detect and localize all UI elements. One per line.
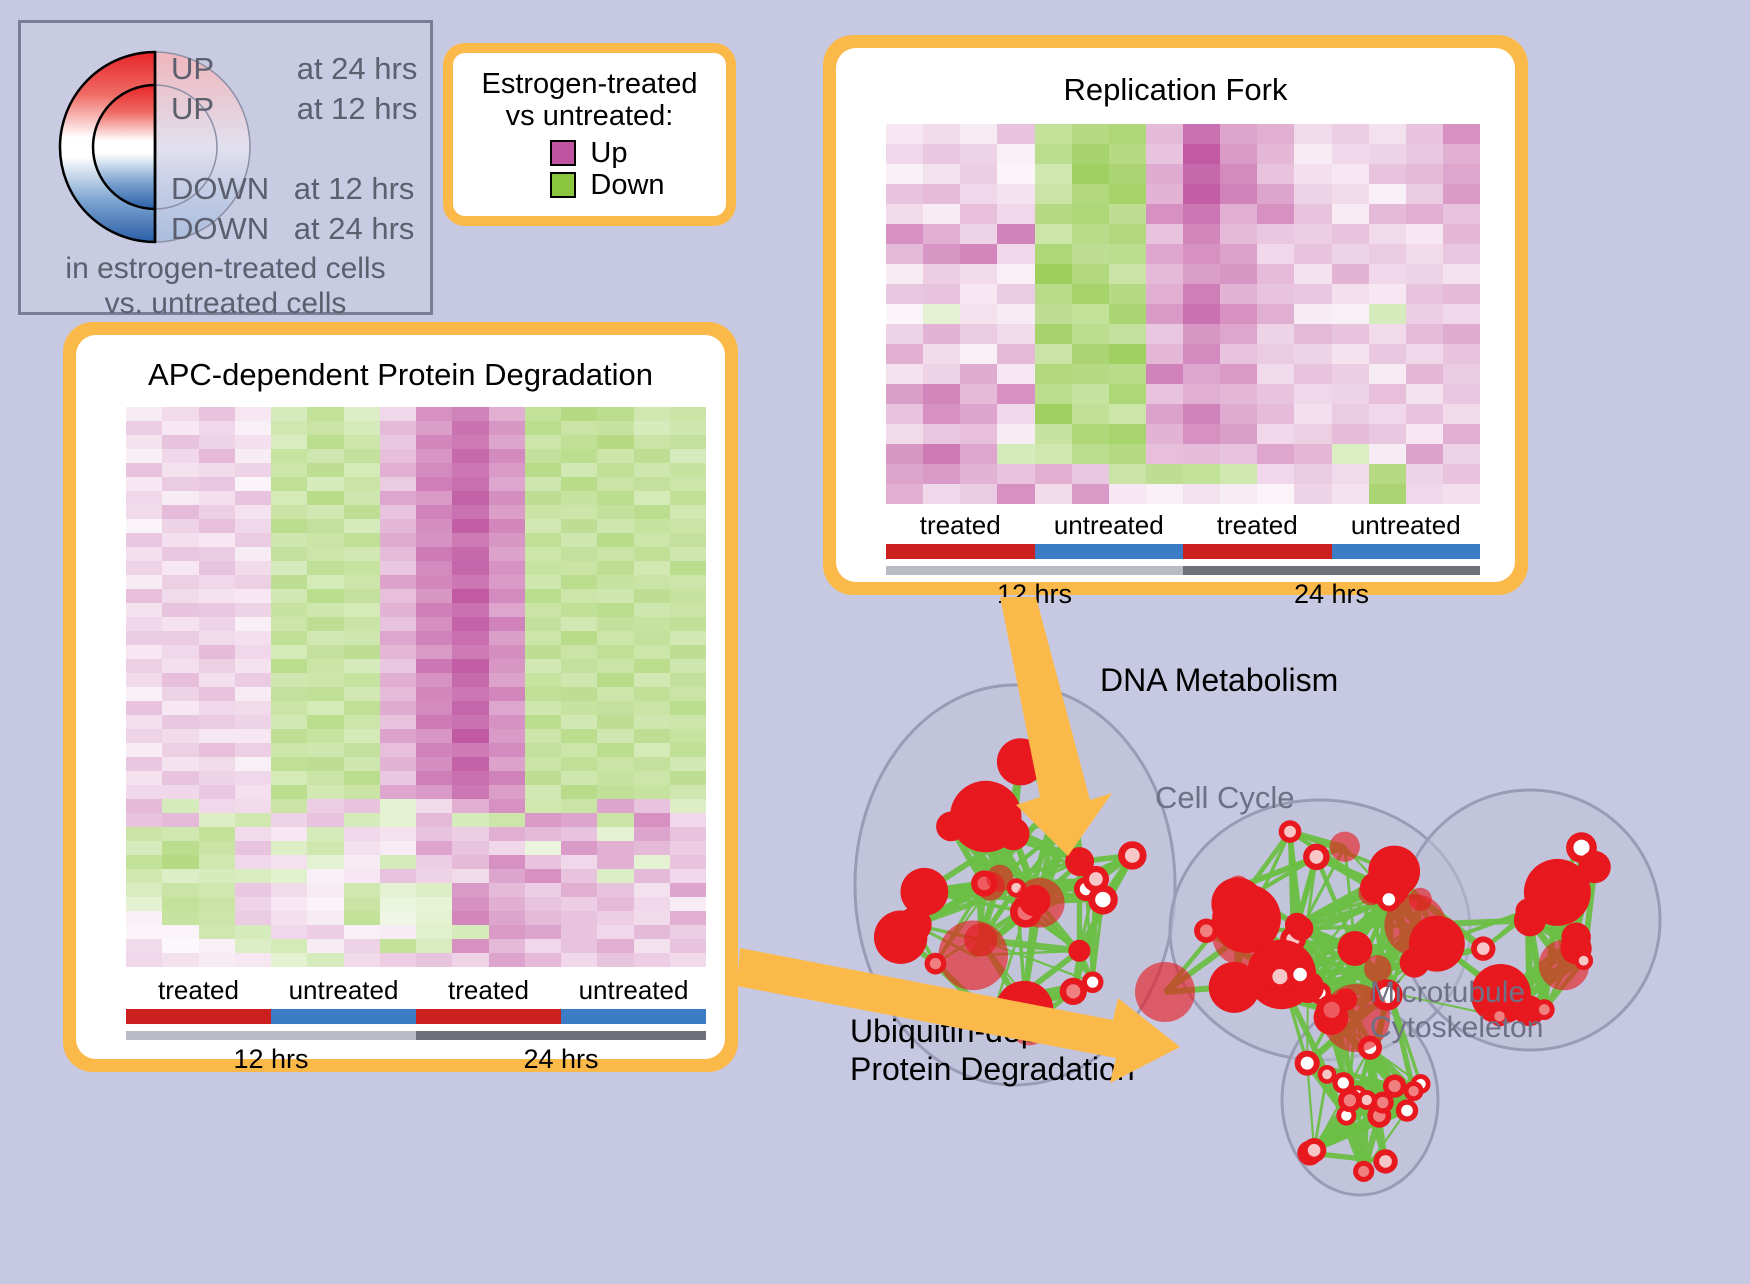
heatmap-cell (525, 799, 561, 813)
heatmap-cell (1109, 284, 1146, 304)
group-bar-apc-1 (271, 1009, 416, 1024)
group-bar-rf-2 (1183, 544, 1332, 559)
heatmap-cell (525, 575, 561, 589)
heatmap-cell (1332, 304, 1369, 324)
heatmap-cell (307, 715, 343, 729)
heatmap-cell (344, 603, 380, 617)
heatmap-cell (634, 897, 670, 911)
heatmap-cell (235, 925, 271, 939)
heatmap-cell (1183, 204, 1220, 224)
heatmap-cell (886, 384, 923, 404)
heatmap-cell (416, 687, 452, 701)
heatmap-cell (271, 855, 307, 869)
heatmap-cell (634, 939, 670, 953)
panel-title-replication-fork: Replication Fork (836, 72, 1515, 108)
heatmap-cell (126, 631, 162, 645)
network-node-core (1389, 1080, 1401, 1092)
heatmap-cell (126, 897, 162, 911)
heatmap-cell (634, 631, 670, 645)
heatmap-cell (597, 939, 633, 953)
heatmap-cell (235, 897, 271, 911)
heatmap-cell (561, 785, 597, 799)
heatmap-cell (126, 911, 162, 925)
heatmap-cell (525, 407, 561, 421)
heatmap-cell (1183, 124, 1220, 144)
heatmap-cell (489, 925, 525, 939)
heatmap-cell (307, 939, 343, 953)
heatmap-cell (199, 491, 235, 505)
heatmap-cell (452, 827, 488, 841)
group-bar-apc-2 (416, 1009, 561, 1024)
heatmap-cell (126, 743, 162, 757)
heatmap-cell (1257, 164, 1294, 184)
heatmap-cell (126, 645, 162, 659)
heatmap-cell (416, 953, 452, 967)
heatmap-cell (235, 715, 271, 729)
heatmap-cell (235, 575, 271, 589)
heatmap-cell (561, 897, 597, 911)
heatmap-cell (126, 519, 162, 533)
heatmap-cell (1443, 344, 1480, 364)
heatmap-cell (380, 687, 416, 701)
heatmap-cell (1257, 384, 1294, 404)
heatmap-cell (1332, 124, 1369, 144)
heatmap-cell (344, 519, 380, 533)
heatmap-cell (670, 547, 706, 561)
heatmap-cell (1035, 184, 1072, 204)
heatmap-cell (126, 463, 162, 477)
heatmap-cell (162, 841, 198, 855)
heatmap-cell (416, 463, 452, 477)
heatmap-cell (162, 533, 198, 547)
heatmap-cell (416, 575, 452, 589)
heatmap-cell (1220, 424, 1257, 444)
heatmap-cell (886, 444, 923, 464)
heatmap-cell (452, 855, 488, 869)
heatmap-cell (1109, 224, 1146, 244)
heatmap-cell (670, 603, 706, 617)
heatmap-cell (670, 701, 706, 715)
heatmap-cell (597, 645, 633, 659)
heatmap-cell (307, 617, 343, 631)
heatmap-cell (525, 589, 561, 603)
heatmap-cell (1220, 484, 1257, 504)
network-node-core (1308, 1144, 1321, 1157)
heatmap-cell (1332, 244, 1369, 264)
key-when-3: at 24 hrs (294, 213, 415, 246)
heatmap-cell (1072, 404, 1109, 424)
heatmap-cell (670, 575, 706, 589)
heatmap-cell (1332, 324, 1369, 344)
heatmap-cell (634, 771, 670, 785)
heatmap-cell (1369, 264, 1406, 284)
heatmap-cell (235, 757, 271, 771)
heatmap-cell (452, 939, 488, 953)
heatmap-cell (1072, 324, 1109, 344)
heatmap-cell (525, 827, 561, 841)
heatmap-cell (670, 925, 706, 939)
heatmap-cell (271, 939, 307, 953)
time-bar-apc-12 (126, 1031, 416, 1040)
network-node (1514, 904, 1546, 936)
network-node (997, 818, 1030, 851)
network-node (1015, 878, 1065, 928)
heatmap-cell (126, 421, 162, 435)
heatmap-cell (452, 491, 488, 505)
heatmap-cell (452, 953, 488, 967)
heatmap-cell (344, 701, 380, 715)
heatmap-cell (1146, 224, 1183, 244)
heatmap-cell (1332, 204, 1369, 224)
network-node (1285, 913, 1309, 937)
heatmap-cell (1294, 224, 1331, 244)
heatmap-cell (634, 575, 670, 589)
heatmap-cell (597, 925, 633, 939)
heatmap-cell (1443, 224, 1480, 244)
heatmap-cell (271, 897, 307, 911)
heatmap-cell (1406, 444, 1443, 464)
heatmap-cell (886, 264, 923, 284)
heatmap-cell (271, 505, 307, 519)
heatmap-cell (1257, 444, 1294, 464)
heatmap-cell (380, 953, 416, 967)
heatmap-cell (380, 799, 416, 813)
heatmap-cell (1257, 124, 1294, 144)
heatmap-cell (199, 827, 235, 841)
network-node (964, 923, 997, 956)
heatmap-cell (1257, 284, 1294, 304)
heatmap-cell (162, 939, 198, 953)
heatmap-cell (634, 533, 670, 547)
heatmap-cell (452, 911, 488, 925)
heatmap-cell (416, 505, 452, 519)
heatmap-cell (126, 855, 162, 869)
heatmap-cell (886, 324, 923, 344)
heatmap-cell (1072, 224, 1109, 244)
heatmap-cell (1109, 304, 1146, 324)
heatmap-cell (271, 757, 307, 771)
heatmap-cell (597, 771, 633, 785)
heatmap-cell (525, 645, 561, 659)
heatmap-cell (1257, 424, 1294, 444)
heatmap-cell (960, 204, 997, 224)
heatmap-cell (452, 561, 488, 575)
heatmap-cell (162, 799, 198, 813)
heatmap-cell (235, 505, 271, 519)
heatmap-cell (525, 855, 561, 869)
heatmap-cell (162, 547, 198, 561)
heatmap-cell (634, 757, 670, 771)
heatmap-cell (1183, 144, 1220, 164)
heatmap-cell (380, 883, 416, 897)
heatmap-cell (561, 841, 597, 855)
heatmap-cell (126, 659, 162, 673)
heatmap-cell (960, 404, 997, 424)
time-color-bar-rf (886, 566, 1480, 575)
heatmap-cell (886, 144, 923, 164)
group-label-apc-2: treated (416, 975, 561, 1006)
heatmap-cell (1332, 184, 1369, 204)
heatmap-cell (1294, 204, 1331, 224)
group-bar-apc-0 (126, 1009, 271, 1024)
heatmap-cell (670, 729, 706, 743)
heatmap-cell (271, 645, 307, 659)
heatmap-cell (1257, 224, 1294, 244)
heatmap-cell (162, 911, 198, 925)
heatmap-cell (561, 547, 597, 561)
heatmap-cell (1294, 464, 1331, 484)
heatmap-cell (126, 701, 162, 715)
heatmap-cell (380, 519, 416, 533)
heatmap-cell (1146, 424, 1183, 444)
heatmap-cell (1294, 484, 1331, 504)
heatmap-cell (307, 813, 343, 827)
network-node-core (1301, 1057, 1314, 1070)
network-node-core (1579, 956, 1589, 966)
heatmap-cell (344, 407, 380, 421)
heatmap-cell (344, 813, 380, 827)
heatmap-cell (199, 603, 235, 617)
heatmap-cell (416, 911, 452, 925)
heatmap-cell (597, 631, 633, 645)
heatmap-cell (597, 505, 633, 519)
heatmap-cell (997, 484, 1034, 504)
heatmap-cell (1183, 344, 1220, 364)
heatmap-cell (1035, 164, 1072, 184)
heatmap-cell (380, 939, 416, 953)
heatmap-cell (162, 491, 198, 505)
heatmap-cell (1220, 284, 1257, 304)
heatmap-cell (489, 533, 525, 547)
heatmap-cell (670, 743, 706, 757)
heatmap-cell (561, 939, 597, 953)
axis-apc: treated untreated treated untreated 12 h (126, 975, 706, 1075)
heatmap-cell (960, 464, 997, 484)
heatmap-cell (307, 897, 343, 911)
heatmap-cell (1294, 364, 1331, 384)
heatmap-cell (597, 477, 633, 491)
heatmap-cell (525, 785, 561, 799)
heatmap-cell (416, 631, 452, 645)
heatmap-cell (561, 533, 597, 547)
heatmap-cell (960, 444, 997, 464)
heatmap-cell (162, 729, 198, 743)
heatmap-cell (923, 364, 960, 384)
heatmap-cell (199, 617, 235, 631)
heatmap-cell (1257, 184, 1294, 204)
heatmap-cell (923, 224, 960, 244)
heatmap-cell (670, 589, 706, 603)
heatmap-cell (597, 953, 633, 967)
heatmap-cell (235, 617, 271, 631)
heatmap-cell (199, 785, 235, 799)
heatmap-cell (1332, 464, 1369, 484)
heatmap-cell (126, 435, 162, 449)
heatmap-cell (271, 463, 307, 477)
heatmap-cell (271, 925, 307, 939)
heatmap-cell (452, 547, 488, 561)
heatmap-cell (307, 701, 343, 715)
network-node (976, 872, 1005, 901)
network-node (997, 738, 1044, 785)
heatmap-cell (525, 925, 561, 939)
heatmap-cell (634, 449, 670, 463)
heatmap-cell (1183, 164, 1220, 184)
network-node-core (1272, 969, 1287, 984)
heatmap-cell (416, 883, 452, 897)
heatmap-cell (380, 897, 416, 911)
heatmap-cell (344, 869, 380, 883)
heatmap-cell (997, 264, 1034, 284)
heatmap-cell (1183, 464, 1220, 484)
heatmap-cell (452, 757, 488, 771)
heatmap-cell (235, 827, 271, 841)
heatmap-cell (307, 687, 343, 701)
heatmap-cell (525, 505, 561, 519)
heatmap-cell (162, 617, 198, 631)
heatmap-cell (1035, 464, 1072, 484)
heatmap-cell (235, 491, 271, 505)
heatmap-cell (923, 404, 960, 424)
heatmap-cell (307, 463, 343, 477)
network-node-core (1477, 942, 1490, 955)
heatmap-cell (271, 631, 307, 645)
heatmap-cell (489, 645, 525, 659)
heatmap-cell (271, 617, 307, 631)
heatmap-cell (271, 785, 307, 799)
heatmap-cell (1369, 164, 1406, 184)
heatmap-cell (344, 449, 380, 463)
heatmap-cell (452, 477, 488, 491)
down-swatch-icon (550, 172, 576, 198)
heatmap-cell (1220, 364, 1257, 384)
heatmap-cell (923, 264, 960, 284)
heatmap-cell (235, 561, 271, 575)
heatmap-cell (1443, 144, 1480, 164)
heatmap-cell (597, 799, 633, 813)
heatmap-cell (1035, 364, 1072, 384)
heatmap-cell (561, 617, 597, 631)
heatmap-cell (1443, 164, 1480, 184)
heatmap-cell (380, 435, 416, 449)
network-svg (760, 600, 1740, 1279)
heatmap-cell (162, 827, 198, 841)
heatmap-cell (597, 743, 633, 757)
heatmap-cell (380, 477, 416, 491)
network-node-core (1089, 872, 1103, 886)
heatmap-cell (489, 757, 525, 771)
heatmap-cell (634, 813, 670, 827)
heatmap-cell (561, 505, 597, 519)
group-label-apc-0: treated (126, 975, 271, 1006)
heatmap-cell (307, 603, 343, 617)
heatmap-cell (126, 883, 162, 897)
heatmap-cell (1369, 124, 1406, 144)
heatmap-cell (344, 673, 380, 687)
heatmap-cell (1072, 124, 1109, 144)
heatmap-cell (525, 939, 561, 953)
heatmap-cell (271, 827, 307, 841)
heatmap-cell (597, 827, 633, 841)
heatmap-cell (525, 813, 561, 827)
heatmap-cell (307, 729, 343, 743)
heatmap-cell (561, 869, 597, 883)
heatmap-cell (344, 743, 380, 757)
heatmap-cell (162, 701, 198, 715)
heatmap-cell (344, 925, 380, 939)
network-node (1578, 851, 1610, 883)
heatmap-cell (489, 589, 525, 603)
heatmap-cell (525, 449, 561, 463)
heatmap-cell (634, 827, 670, 841)
heatmap-cell (597, 533, 633, 547)
heatmap-cell (452, 519, 488, 533)
heatmap-cell (344, 491, 380, 505)
heatmap-cell (380, 729, 416, 743)
heatmap-cell (1072, 204, 1109, 224)
heatmap-cell (1443, 484, 1480, 504)
heatmap-cell (162, 673, 198, 687)
heatmap-cell (199, 925, 235, 939)
heatmap-cell (162, 659, 198, 673)
heatmap-cell (452, 729, 488, 743)
heatmap-cell (162, 589, 198, 603)
heatmap-cell (271, 911, 307, 925)
heatmap-cell (670, 421, 706, 435)
heatmap-cell (452, 841, 488, 855)
heatmap-cell (1072, 164, 1109, 184)
heatmap-cell (271, 841, 307, 855)
network-node (1227, 876, 1250, 899)
heatmap-cell (1072, 144, 1109, 164)
heatmap-cell (1072, 464, 1109, 484)
heatmap-cell (380, 547, 416, 561)
heatmap-cell (1443, 304, 1480, 324)
ub-line2: Protein Degradation (850, 1051, 1136, 1089)
heatmap-cell (199, 883, 235, 897)
heatmap-cell (670, 841, 706, 855)
heatmap-cell (1183, 244, 1220, 264)
network-node (965, 815, 988, 838)
heatmap-cell (670, 435, 706, 449)
heatmap-cell (561, 827, 597, 841)
heatmap-cell (416, 715, 452, 729)
heatmap-cell (1109, 264, 1146, 284)
network-label-ubiquitin-degradation: Ubiquitin-dependent Protein Degradation (850, 1013, 1136, 1089)
heatmap-cell (1035, 144, 1072, 164)
heatmap-cell (634, 841, 670, 855)
network-node (1409, 916, 1465, 972)
heatmap-cell (1146, 284, 1183, 304)
heatmap-cell (344, 463, 380, 477)
heatmap-cell (307, 743, 343, 757)
heatmap-cell (634, 869, 670, 883)
network-node-core (1362, 1095, 1372, 1105)
group-bar-apc-3 (561, 1009, 706, 1024)
heatmap-cell (126, 813, 162, 827)
heatmap-cell (1146, 304, 1183, 324)
heatmap-cell (634, 785, 670, 799)
heatmap-cell (489, 421, 525, 435)
heatmap-cell (561, 449, 597, 463)
up-swatch-icon (550, 140, 576, 166)
heatmap-cell (561, 421, 597, 435)
heatmap-cell (344, 645, 380, 659)
key-word-1: UP (171, 93, 214, 126)
heatmap-cell (1332, 484, 1369, 504)
heatmap-cell (1332, 384, 1369, 404)
heatmap-cell (923, 344, 960, 364)
